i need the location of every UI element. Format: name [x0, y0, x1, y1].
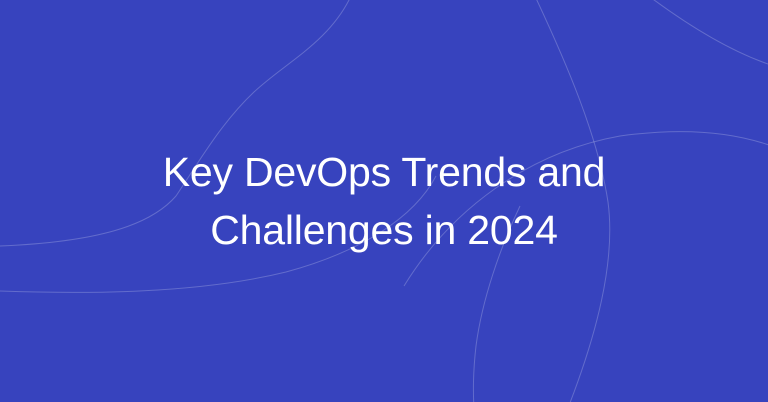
page-title-line-2: Challenges in 2024	[104, 201, 664, 259]
page-title: Key DevOps Trends and Challenges in 2024	[104, 143, 664, 259]
hero-banner: Key DevOps Trends and Challenges in 2024	[0, 0, 768, 402]
page-title-line-1: Key DevOps Trends and	[104, 143, 664, 201]
banner-title-block: Key DevOps Trends and Challenges in 2024	[0, 0, 768, 402]
